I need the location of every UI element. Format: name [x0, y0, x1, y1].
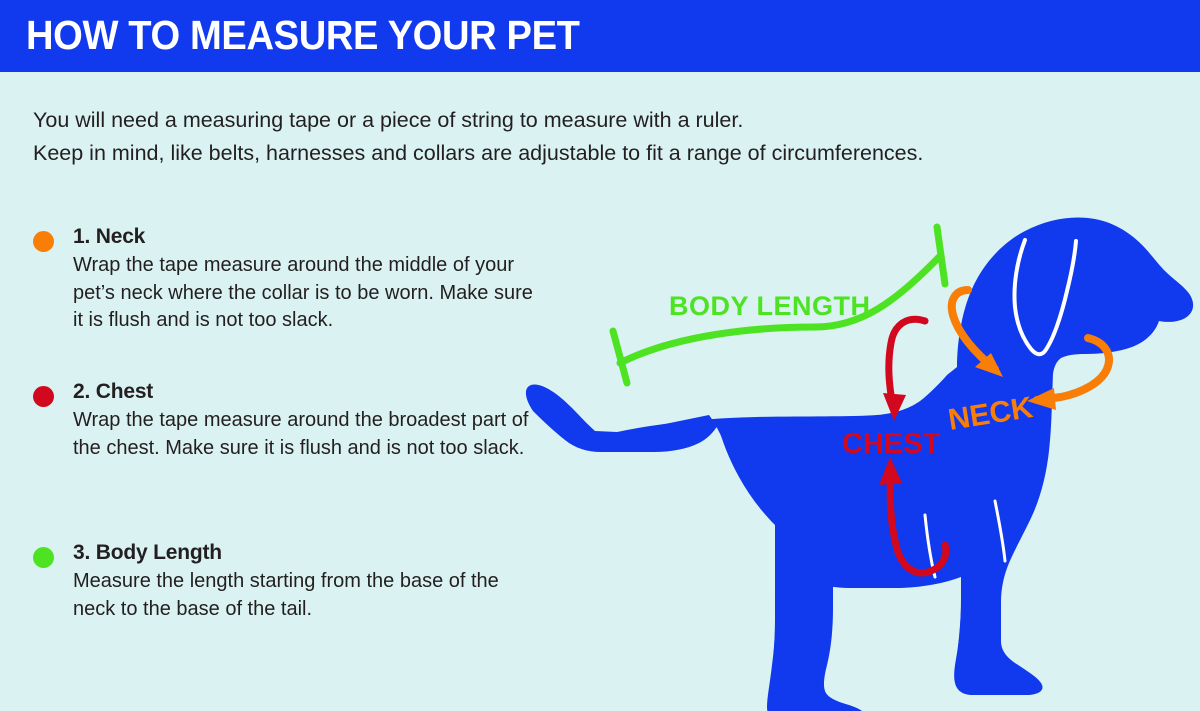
step-body-length-title: 3. Body Length [73, 541, 533, 565]
step-neck: 1. Neck Wrap the tape measure around the… [33, 225, 533, 335]
intro-line-1: You will need a measuring tape or a piec… [33, 104, 1153, 137]
step-chest: 2. Chest Wrap the tape measure around th… [33, 380, 533, 462]
intro-line-2: Keep in mind, like belts, harnesses and … [33, 137, 1153, 170]
infographic-page: HOW TO MEASURE YOUR PET You will need a … [0, 0, 1200, 711]
step-chest-body: Wrap the tape measure around the broades… [73, 407, 543, 462]
body-length-measure: BODY LENGTH [613, 227, 945, 383]
page-title: HOW TO MEASURE YOUR PET [26, 12, 580, 59]
chest-arrow-upper [889, 319, 925, 407]
step-body-length: 3. Body Length Measure the length starti… [33, 541, 533, 623]
bullet-icon-neck [33, 231, 54, 252]
step-neck-title: 1. Neck [73, 225, 533, 249]
bullet-icon-body-length [33, 547, 54, 568]
dog-diagram: BODY LENGTH NECK CHEST [505, 185, 1200, 711]
intro-text: You will need a measuring tape or a piec… [33, 104, 1153, 170]
step-neck-body: Wrap the tape measure around the middle … [73, 252, 543, 335]
step-body-length-body: Measure the length starting from the bas… [73, 568, 543, 623]
bullet-icon-chest [33, 386, 54, 407]
body-length-label: BODY LENGTH [669, 291, 871, 321]
header-bar: HOW TO MEASURE YOUR PET [0, 0, 1200, 72]
step-chest-title: 2. Chest [73, 380, 533, 404]
chest-label: CHEST [842, 428, 941, 460]
